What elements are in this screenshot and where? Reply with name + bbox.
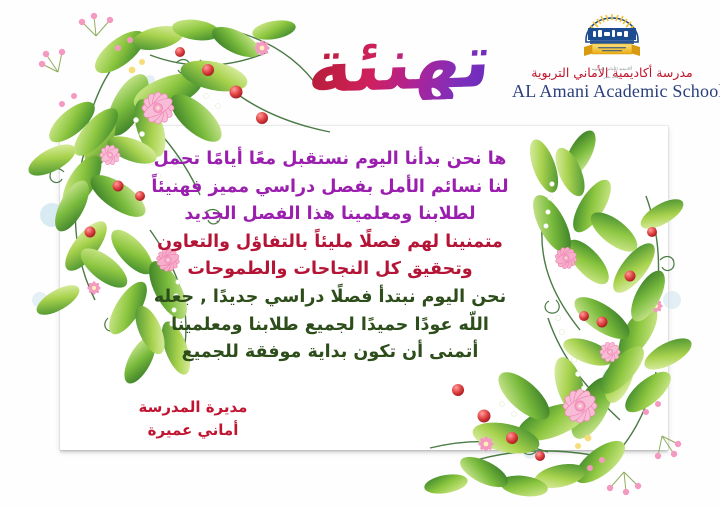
message-line: نحن اليوم نبتدأ فصلًا دراسي جديدًا , جعل… xyxy=(70,284,590,312)
message-line: اللّه عودًا حميدًا لجميع طلابنا ومعلمينا xyxy=(70,312,590,340)
school-logo: أكاديمية الأماني التربوية ريادة تميز xyxy=(580,6,644,60)
message-body: ها نحن بدأنا اليوم نستقبل معًا أيامًا تح… xyxy=(70,146,590,367)
signature-role: مديرة المدرسة xyxy=(88,396,298,419)
brand-block: أكاديمية الأماني التربوية ريادة تميز مدر… xyxy=(512,6,712,102)
greeting-card-canvas: تهنئة xyxy=(0,0,720,509)
signature-name: أماني عميرة xyxy=(88,419,298,442)
signature-block: مديرة المدرسة أماني عميرة xyxy=(88,396,298,442)
logo-caption-line-2: ريادة تميز xyxy=(580,73,644,80)
calligraphy-title-text: تهنئة xyxy=(305,24,494,104)
school-name-english: AL Amani Academic School xyxy=(512,81,712,102)
message-line: متمنينا لهم فصلًا مليئاً بالتفاؤل والتعا… xyxy=(70,229,590,257)
message-line: لطلابنا ومعلمينا هذا الفصل الجديد xyxy=(70,201,590,229)
message-line: ها نحن بدأنا اليوم نستقبل معًا أيامًا تح… xyxy=(70,146,590,174)
message-line: لنا نسائم الأمل بفصل دراسي مميز فهنيئاً xyxy=(70,174,590,202)
message-line: أتمنى أن تكون بداية موفقة للجميع xyxy=(70,339,590,367)
school-logo-icon xyxy=(580,6,644,60)
message-line: وتحقيق كل النجاحات والطموحات xyxy=(70,256,590,284)
logo-caption-line-1: أكاديمية الأماني التربوية xyxy=(580,65,644,72)
calligraphy-title: تهنئة xyxy=(250,4,550,124)
